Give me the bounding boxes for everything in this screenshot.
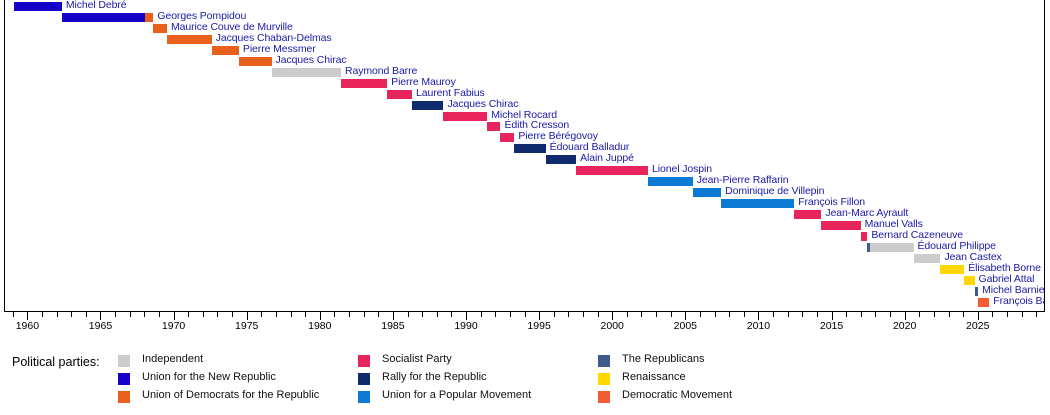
legend-swatch bbox=[358, 373, 370, 385]
axis-tick-minor bbox=[700, 312, 701, 317]
x-axis: 1960196519701975198019851990199520002005… bbox=[4, 312, 1045, 338]
legend-label: Union of Democrats for the Republic bbox=[142, 389, 319, 401]
timeline-bar bbox=[546, 155, 576, 164]
timeline-bar bbox=[975, 287, 979, 296]
timeline-bar bbox=[964, 276, 974, 285]
axis-tick-label: 1995 bbox=[527, 320, 550, 332]
timeline-bar bbox=[914, 254, 941, 263]
axis-tick-minor bbox=[875, 312, 876, 317]
timeline-bar bbox=[443, 112, 487, 121]
axis-tick-minor bbox=[641, 312, 642, 317]
axis-tick-minor bbox=[334, 312, 335, 317]
timeline-bar bbox=[500, 133, 514, 142]
timeline-bar bbox=[821, 221, 860, 230]
axis-tick-minor bbox=[598, 312, 599, 317]
legend-label: Independent bbox=[142, 353, 203, 365]
legend-label: Renaissance bbox=[622, 371, 686, 383]
axis-tick-label: 2025 bbox=[966, 320, 989, 332]
timeline-bar bbox=[62, 13, 145, 22]
timeline-bar bbox=[239, 57, 272, 66]
timeline-row-label: Jacques Chirac bbox=[276, 54, 347, 66]
axis-tick-minor bbox=[846, 312, 847, 317]
axis-tick-minor bbox=[788, 312, 789, 317]
legend-label: Union for a Popular Movement bbox=[382, 389, 531, 401]
axis-tick-minor bbox=[481, 312, 482, 317]
axis-tick-minor bbox=[130, 312, 131, 317]
legend-swatch bbox=[358, 355, 370, 367]
axis-tick-minor bbox=[115, 312, 116, 317]
plot-area: Michel DebréGeorges PompidouMaurice Couv… bbox=[4, 0, 1045, 312]
axis-tick-minor bbox=[349, 312, 350, 317]
timeline-bar bbox=[341, 79, 387, 88]
axis-tick-minor bbox=[715, 312, 716, 317]
axis-tick-minor bbox=[422, 312, 423, 317]
axis-tick-minor bbox=[568, 312, 569, 317]
axis-tick-label: 2000 bbox=[601, 320, 624, 332]
axis-tick-minor bbox=[627, 312, 628, 317]
timeline-bar bbox=[412, 101, 443, 110]
legend-swatch bbox=[118, 355, 130, 367]
axis-tick-label: 2005 bbox=[674, 320, 697, 332]
legend-swatch bbox=[598, 355, 610, 367]
axis-tick-minor bbox=[305, 312, 306, 317]
axis-tick-major bbox=[320, 312, 321, 320]
timeline-bar bbox=[212, 46, 239, 55]
axis-tick-minor bbox=[656, 312, 657, 317]
axis-tick-label: 1965 bbox=[89, 320, 112, 332]
legend-label: The Republicans bbox=[622, 353, 705, 365]
axis-tick-minor bbox=[729, 312, 730, 317]
timeline-row: François Bayrou bbox=[5, 297, 1044, 309]
axis-tick-minor bbox=[671, 312, 672, 317]
axis-tick-minor bbox=[144, 312, 145, 317]
legend-title: Political parties: bbox=[12, 355, 100, 369]
timeline-bar bbox=[721, 199, 794, 208]
axis-tick-minor bbox=[276, 312, 277, 317]
axis-tick-minor bbox=[861, 312, 862, 317]
axis-tick-label: 2010 bbox=[747, 320, 770, 332]
legend: Political parties: IndependentUnion for … bbox=[0, 352, 1050, 415]
axis-tick-label: 1960 bbox=[16, 320, 39, 332]
timeline-bar bbox=[794, 210, 821, 219]
axis-tick-label: 1985 bbox=[381, 320, 404, 332]
axis-tick-label: 2020 bbox=[893, 320, 916, 332]
timeline-bar bbox=[978, 298, 989, 307]
axis-tick-minor bbox=[188, 312, 189, 317]
axis-tick-minor bbox=[773, 312, 774, 317]
timeline-bar bbox=[648, 177, 693, 186]
legend-label: Democratic Movement bbox=[622, 389, 732, 401]
axis-tick-major bbox=[539, 312, 540, 320]
axis-tick-major bbox=[832, 312, 833, 320]
legend-swatch bbox=[118, 391, 130, 403]
axis-tick-major bbox=[393, 312, 394, 320]
axis-tick-minor bbox=[13, 312, 14, 317]
axis-tick-minor bbox=[949, 312, 950, 317]
timeline-bar bbox=[153, 24, 167, 33]
axis-tick-minor bbox=[203, 312, 204, 317]
legend-label: Rally for the Republic bbox=[382, 371, 487, 383]
axis-tick-major bbox=[174, 312, 175, 320]
timeline-row-label: François Bayrou bbox=[993, 295, 1045, 307]
axis-tick-major bbox=[685, 312, 686, 320]
timeline-bar bbox=[487, 122, 500, 131]
axis-tick-minor bbox=[86, 312, 87, 317]
axis-tick-minor bbox=[583, 312, 584, 317]
axis-tick-minor bbox=[510, 312, 511, 317]
axis-tick-major bbox=[758, 312, 759, 320]
axis-tick-major bbox=[247, 312, 248, 320]
axis-tick-minor bbox=[42, 312, 43, 317]
legend-swatch bbox=[118, 373, 130, 385]
legend-swatch bbox=[358, 391, 370, 403]
axis-tick-major bbox=[978, 312, 979, 320]
axis-tick-major bbox=[27, 312, 28, 320]
timeline-bar bbox=[167, 35, 212, 44]
axis-tick-label: 1990 bbox=[454, 320, 477, 332]
axis-tick-minor bbox=[57, 312, 58, 317]
axis-tick-minor bbox=[890, 312, 891, 317]
axis-tick-minor bbox=[378, 312, 379, 317]
axis-tick-minor bbox=[1036, 312, 1037, 317]
axis-tick-major bbox=[466, 312, 467, 320]
timeline-row-label: Michel Debré bbox=[66, 0, 127, 11]
timeline-chart: Michel DebréGeorges PompidouMaurice Couv… bbox=[0, 0, 1050, 415]
timeline-bar bbox=[272, 68, 341, 77]
timeline-bar bbox=[387, 90, 412, 99]
timeline-row-label: Alain Juppé bbox=[580, 152, 634, 164]
axis-tick-minor bbox=[291, 312, 292, 317]
axis-tick-minor bbox=[1007, 312, 1008, 317]
legend-label: Socialist Party bbox=[382, 353, 452, 365]
axis-tick-minor bbox=[159, 312, 160, 317]
axis-tick-label: 1975 bbox=[235, 320, 258, 332]
timeline-bar bbox=[576, 166, 648, 175]
axis-tick-major bbox=[612, 312, 613, 320]
axis-tick-minor bbox=[408, 312, 409, 317]
axis-tick-minor bbox=[554, 312, 555, 317]
axis-tick-minor bbox=[495, 312, 496, 317]
legend-swatch bbox=[598, 373, 610, 385]
timeline-bar bbox=[14, 2, 62, 11]
axis-tick-label: 1980 bbox=[308, 320, 331, 332]
legend-label: Union for the New Republic bbox=[142, 371, 276, 383]
timeline-bar bbox=[940, 265, 964, 274]
axis-tick-minor bbox=[817, 312, 818, 317]
timeline-bar bbox=[145, 13, 153, 22]
axis-tick-minor bbox=[232, 312, 233, 317]
timeline-bar bbox=[514, 144, 545, 153]
axis-tick-minor bbox=[261, 312, 262, 317]
timeline-bar bbox=[870, 243, 914, 252]
axis-tick-major bbox=[100, 312, 101, 320]
axis-tick-minor bbox=[744, 312, 745, 317]
axis-tick-minor bbox=[451, 312, 452, 317]
axis-tick-minor bbox=[934, 312, 935, 317]
timeline-bar bbox=[861, 232, 868, 241]
axis-tick-label: 1970 bbox=[162, 320, 185, 332]
axis-tick-label: 2015 bbox=[820, 320, 843, 332]
axis-tick-minor bbox=[1022, 312, 1023, 317]
axis-tick-minor bbox=[992, 312, 993, 317]
axis-tick-minor bbox=[802, 312, 803, 317]
axis-tick-minor bbox=[525, 312, 526, 317]
legend-swatch bbox=[598, 391, 610, 403]
axis-tick-minor bbox=[217, 312, 218, 317]
axis-tick-minor bbox=[71, 312, 72, 317]
axis-tick-minor bbox=[437, 312, 438, 317]
axis-tick-major bbox=[905, 312, 906, 320]
axis-tick-minor bbox=[364, 312, 365, 317]
axis-tick-minor bbox=[919, 312, 920, 317]
axis-tick-minor bbox=[963, 312, 964, 317]
timeline-bar bbox=[693, 188, 721, 197]
